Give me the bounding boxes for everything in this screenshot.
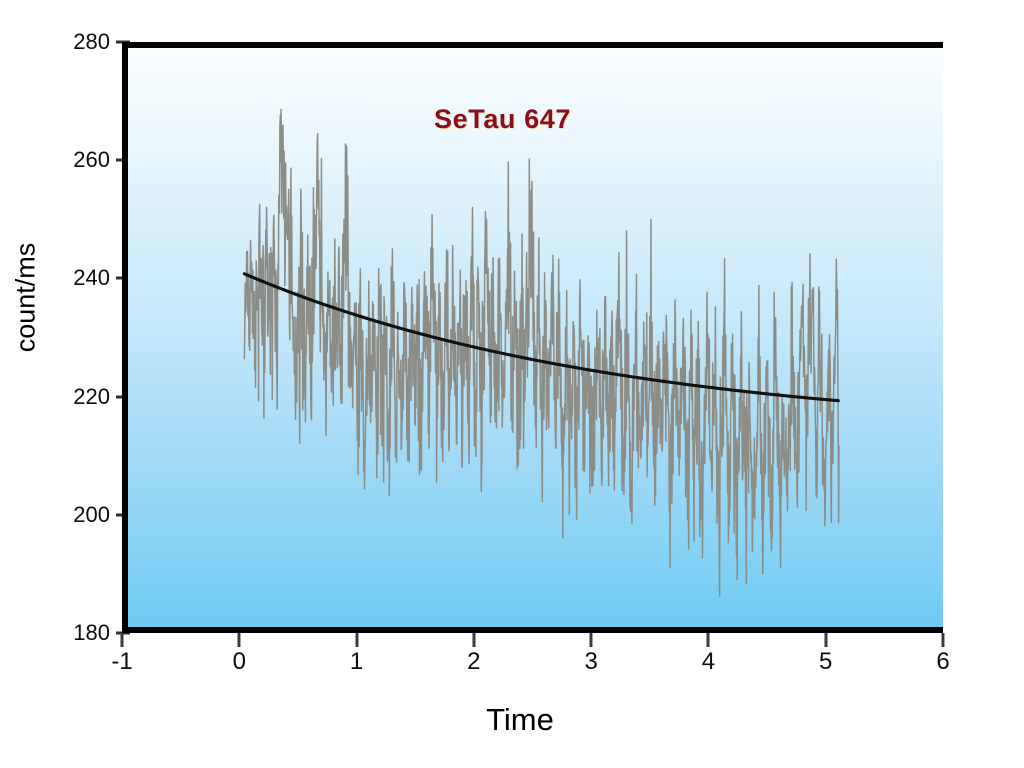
y-tick-label: 240 [54, 265, 110, 291]
x-tick-label: 5 [796, 648, 856, 676]
x-tick-label: 1 [327, 648, 387, 676]
x-tick-mark [121, 633, 124, 647]
y-tick-label: 220 [54, 384, 110, 410]
y-axis-title: count/ms [11, 198, 42, 398]
y-tick-label: 180 [54, 620, 110, 646]
x-tick-label: 4 [678, 648, 738, 676]
y-tick-label: 260 [54, 147, 110, 173]
x-tick-mark [238, 633, 241, 647]
x-axis-title: Time [410, 702, 630, 738]
x-tick-mark [824, 633, 827, 647]
chart-page: 280260240220200180 count/ms SeTau 647 -1… [0, 0, 1024, 768]
x-tick-mark [355, 633, 358, 647]
x-tick-label: 3 [561, 648, 621, 676]
data-trace-polyline [244, 110, 839, 597]
x-tick-label: -1 [92, 648, 152, 676]
x-tick-mark [590, 633, 593, 647]
x-tick-mark [942, 633, 945, 647]
y-tick-label: 200 [54, 502, 110, 528]
x-tick-mark [472, 633, 475, 647]
y-tick-label: 280 [54, 29, 110, 55]
x-tick-mark [707, 633, 710, 647]
x-tick-label: 0 [209, 648, 269, 676]
x-tick-label: 2 [444, 648, 504, 676]
x-tick-label: 6 [913, 648, 973, 676]
chart-title-annotation: SeTau 647 [434, 104, 571, 135]
